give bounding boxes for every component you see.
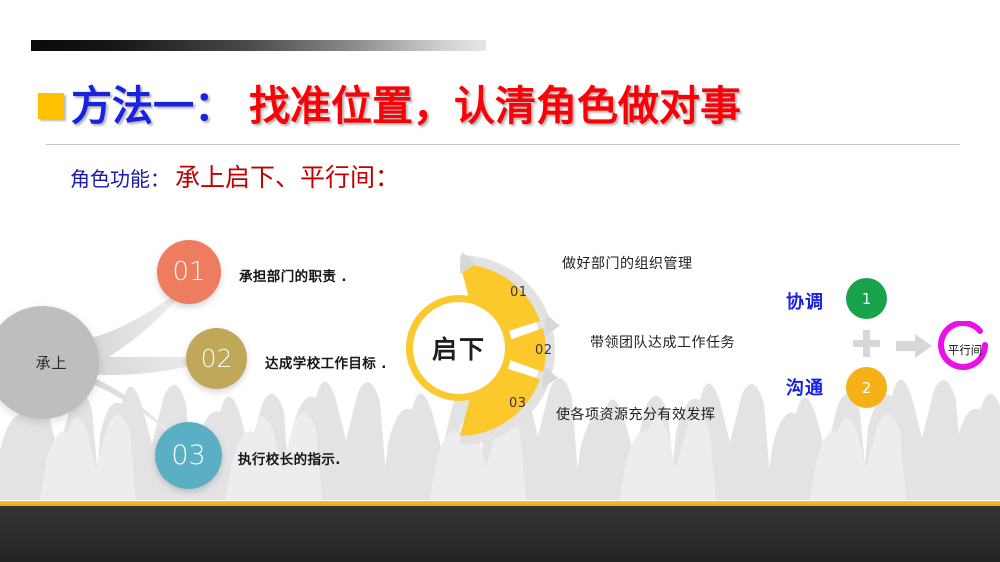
node-circle-02[interactable]: 02 — [186, 328, 247, 389]
divider-line — [46, 144, 960, 145]
plus-icon — [853, 330, 880, 357]
result-ring-label: 平行间 — [948, 342, 983, 358]
right-word-coordinate: 协调 — [786, 288, 824, 314]
result-ring[interactable]: 平行间 — [936, 321, 994, 379]
square-bullet-icon — [38, 93, 64, 119]
hub-label-center: 启下 — [432, 330, 486, 366]
donut-arc-label-02: 带领团队达成工作任务 — [590, 332, 735, 352]
donut-arc-number-02: 02 — [535, 343, 553, 358]
title-blue-part: 方法一： — [71, 86, 235, 127]
donut-arc-label-01: 做好部门的组织管理 — [562, 253, 693, 273]
right-word-communicate: 沟通 — [786, 374, 824, 400]
node-number-03: 03 — [171, 440, 205, 471]
page-title: 方法一： 找准位置，认清角色做对事 — [38, 78, 741, 134]
title-red-part: 找准位置，认清角色做对事 — [249, 86, 741, 127]
subtitle: 角色功能： 承上启下、平行间： — [70, 158, 400, 194]
hub-label-left: 承上 — [17, 352, 67, 373]
node-circle-03[interactable]: 03 — [155, 422, 222, 489]
subtitle-blue-part: 角色功能： — [70, 163, 170, 192]
top-gradient-bar — [31, 40, 486, 51]
node-circle-01[interactable]: 01 — [157, 240, 221, 304]
donut-arc-label-03: 使各项资源充分有效发挥 — [556, 404, 716, 424]
bottom-bar — [0, 506, 1000, 562]
donut-arc-number-01: 01 — [510, 285, 528, 300]
right-mini-number-1: 1 — [862, 290, 872, 308]
slide-canvas: 方法一： 找准位置，认清角色做对事 角色功能： 承上启下、平行间： 承上 01 … — [0, 0, 1000, 562]
right-mini-number-2: 2 — [862, 379, 872, 397]
node-label-01: 承担部门的职责 . — [239, 265, 347, 285]
right-mini-circle-2[interactable]: 2 — [846, 367, 887, 408]
node-label-02: 达成学校工作目标 . — [265, 352, 387, 372]
right-mini-circle-1[interactable]: 1 — [846, 278, 887, 319]
subtitle-red-part: 承上启下、平行间： — [175, 158, 400, 194]
donut-arc-number-03: 03 — [509, 396, 527, 411]
hub-circle-center: 启下 — [406, 295, 512, 401]
node-number-01: 01 — [172, 257, 205, 287]
arrow-right-icon — [896, 334, 932, 358]
node-label-03: 执行校长的指示. — [238, 448, 341, 468]
node-number-02: 02 — [201, 344, 233, 373]
